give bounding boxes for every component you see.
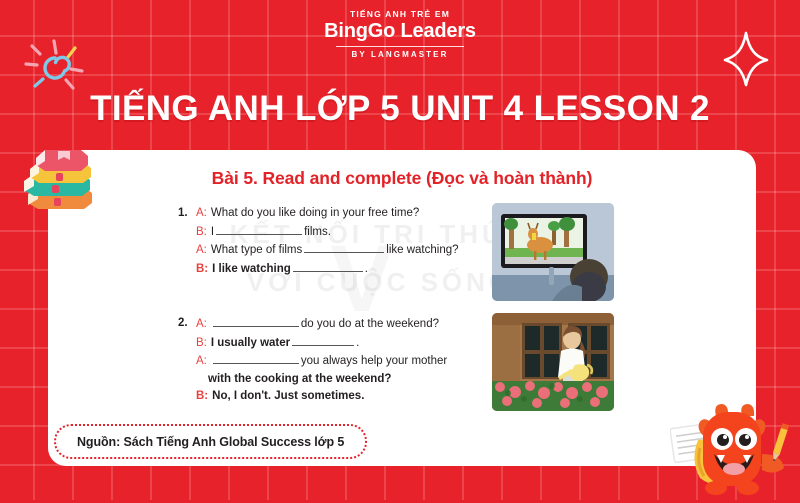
- line-text-after: films.: [304, 226, 331, 238]
- source-badge: Nguồn: Sách Tiếng Anh Global Success lớp…: [54, 424, 367, 459]
- line-text: I: [211, 226, 214, 238]
- exercise-image-watering: [492, 313, 614, 411]
- exercise-item: 2. A:do you do at the weekend? B:I usual…: [178, 315, 502, 406]
- speaker-label: B:: [196, 337, 207, 349]
- exercise-item: 1. A:What do you like doing in your free…: [178, 205, 502, 278]
- dialogue-line: A:do you do at the weekend?: [196, 315, 502, 334]
- speaker-label: A:: [196, 244, 207, 256]
- answer-blank[interactable]: [216, 223, 302, 235]
- speaker-label: B:: [196, 263, 208, 275]
- line-text-after: .: [365, 263, 368, 275]
- sparkle-star-icon: [722, 30, 770, 93]
- line-text: I usually water: [211, 337, 290, 349]
- line-text: What do you like doing in your free time…: [211, 207, 419, 219]
- exercise-number: 2.: [178, 315, 196, 333]
- exercise-lines: A:do you do at the weekend? B:I usually …: [196, 315, 502, 406]
- dialogue-line: B:Ifilms.: [196, 223, 502, 242]
- speaker-label: A:: [196, 318, 207, 330]
- speaker-label: B:: [196, 390, 208, 402]
- source-label: Nguồn: Sách Tiếng Anh Global Success lớp…: [77, 435, 344, 449]
- line-text: I like watching: [212, 263, 291, 275]
- answer-blank[interactable]: [213, 352, 299, 364]
- speaker-label: A:: [196, 355, 207, 367]
- logo-divider: [336, 46, 464, 47]
- logo-byline: BY LANGMASTER: [0, 49, 800, 60]
- exercise-image-tv: [492, 203, 614, 301]
- dialogue-line: A:What type of filmslike watching?: [196, 241, 502, 260]
- dialogue-line: B:I like watching.: [196, 260, 502, 279]
- answer-blank[interactable]: [292, 334, 354, 346]
- exercise-heading: Bài 5. Read and complete (Đọc và hoàn th…: [48, 168, 756, 189]
- logo-tagline: TIẾNG ANH TRẺ EM: [0, 9, 800, 20]
- line-text: No, I don't. Just sometimes.: [212, 390, 364, 402]
- answer-blank[interactable]: [304, 241, 384, 253]
- speaker-label: B:: [196, 226, 207, 238]
- logo-name: BingGo Leaders: [0, 20, 800, 43]
- line-text-after: do you do at the weekend?: [301, 318, 439, 330]
- mascot-icon: [670, 398, 794, 503]
- answer-blank[interactable]: [293, 260, 363, 272]
- dialogue-line: A:What do you like doing in your free ti…: [196, 205, 502, 223]
- dialogue-line: with the cooking at the weekend?: [196, 371, 502, 389]
- exercise-lines: A:What do you like doing in your free ti…: [196, 205, 502, 278]
- line-text-after: like watching?: [386, 244, 458, 256]
- dialogue-line: B:I usually water.: [196, 334, 502, 353]
- dialogue-line: A:you always help your mother: [196, 352, 502, 371]
- sun-doodle-icon: [18, 36, 92, 101]
- line-text-after: .: [356, 337, 359, 349]
- brand-logo: TIẾNG ANH TRẺ EM BingGo Leaders BY LANGM…: [0, 9, 800, 60]
- exercise-number: 1.: [178, 205, 196, 223]
- line-text-after: you always help your mother: [301, 355, 447, 367]
- stack-of-books-icon: [14, 142, 98, 219]
- page-title: TIẾNG ANH LỚP 5 UNIT 4 LESSON 2: [0, 88, 800, 130]
- answer-blank[interactable]: [213, 315, 299, 327]
- dialogue-line: B:No, I don't. Just sometimes.: [196, 388, 502, 406]
- speaker-label: A:: [196, 207, 207, 219]
- line-text: with the cooking at the weekend?: [208, 373, 391, 385]
- lesson-card: Bài 5. Read and complete (Đọc và hoàn th…: [48, 150, 756, 466]
- line-text: What type of films: [211, 244, 302, 256]
